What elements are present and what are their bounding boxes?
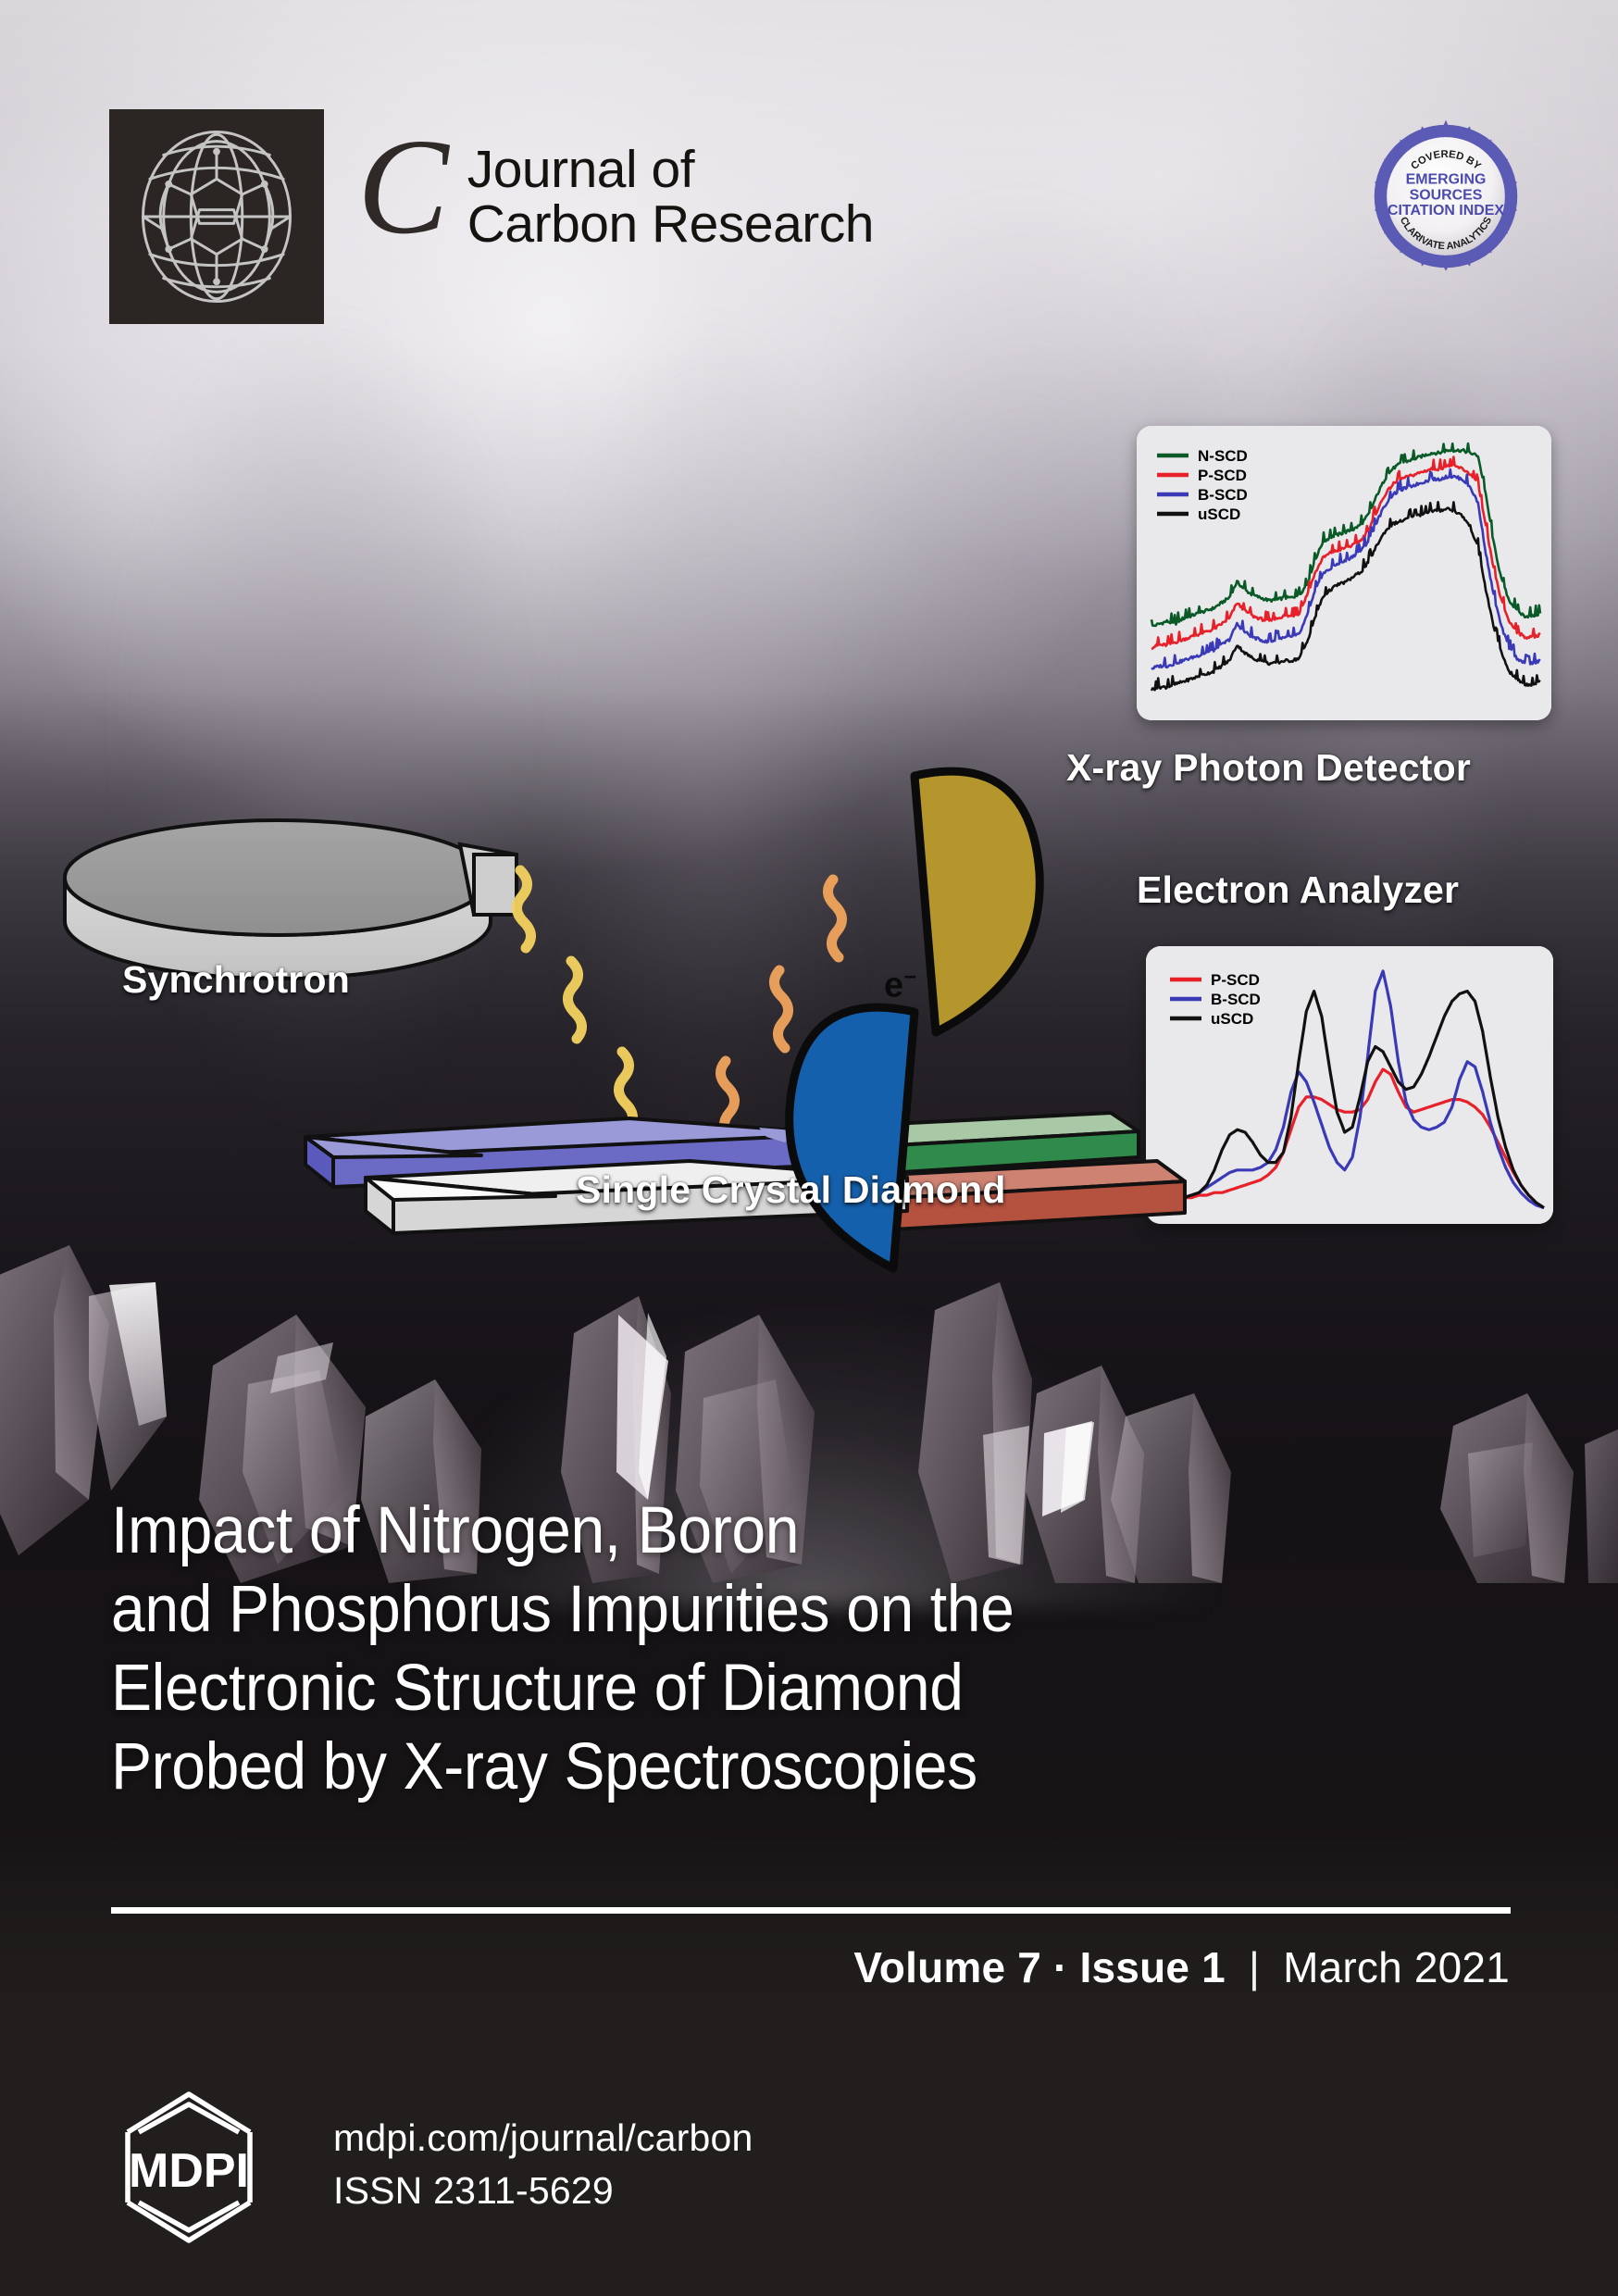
xray-photon-detector-label: X-ray Photon Detector <box>1066 746 1471 790</box>
xray-photon-detector-cone <box>915 771 1039 1032</box>
cover-title: Impact of Nitrogen, Boron and Phosphorus… <box>111 1492 1316 1806</box>
badge-main-line2: SOURCES <box>1410 187 1483 203</box>
issue-divider: | <box>1249 1943 1260 1991</box>
electron-analyzer-label: Electron Analyzer <box>1137 868 1459 912</box>
issue-date: March 2021 <box>1283 1943 1510 1991</box>
title-line-4: Probed by X-ray Spectroscopies <box>111 1728 1316 1807</box>
issue-line: Volume 7 · Issue 1 | March 2021 <box>853 1942 1510 1992</box>
electron-symbol: e <box>884 967 903 1005</box>
horizontal-divider <box>111 1907 1511 1914</box>
title-line-2: and Phosphorus Impurities on the <box>111 1571 1316 1650</box>
electron-analyzer-cone <box>790 1007 915 1268</box>
title-line-3: Electronic Structure of Diamond <box>111 1650 1316 1728</box>
mdpi-logo-icon: MDPI <box>118 2088 283 2247</box>
electron-label: e− <box>884 965 916 1006</box>
volume-issue-dot: · <box>1053 1943 1068 1991</box>
badge-main-line3: CITATION INDEX <box>1388 203 1504 218</box>
incident-xray-beam <box>517 870 632 1129</box>
xas-spectra-chart: N-SCDP-SCDB-SCDuSCD <box>1137 426 1551 720</box>
cover-footer: MDPI mdpi.com/journal/carbon ISSN 2311-5… <box>118 2088 753 2247</box>
journal-letter-c: C <box>357 130 447 244</box>
journal-title-line1: Journal of <box>467 143 874 197</box>
volume-label: Volume 7 <box>853 1943 1041 1991</box>
fullerene-c60-icon <box>109 109 324 324</box>
journal-title-line2: Carbon Research <box>467 197 874 252</box>
legend-label-p-scd: P-SCD <box>1198 467 1247 484</box>
journal-cover: C Journal of Carbon Research <box>0 0 1618 2296</box>
legend-label-n-scd: N-SCD <box>1198 447 1248 465</box>
electron-charge-superscript: − <box>903 965 916 989</box>
mdpi-wordmark: MDPI <box>129 2144 249 2198</box>
esci-seal-icon: COVERED BY EMERGING SOURCES CITATION IND… <box>1368 119 1524 274</box>
single-crystal-diamond-label: Single Crystal Diamond <box>576 1168 1006 1212</box>
legend-label-b-scd: B-SCD <box>1198 486 1248 504</box>
synchrotron-ring <box>65 820 517 979</box>
journal-masthead: C Journal of Carbon Research <box>109 109 874 324</box>
legend-label-uscd: uSCD <box>1198 505 1240 523</box>
synchrotron-label: Synchrotron <box>122 958 350 1002</box>
issue-number-label: Issue 1 <box>1080 1943 1226 1991</box>
journal-url[interactable]: mdpi.com/journal/carbon <box>333 2112 753 2165</box>
issn-label: ISSN 2311-5629 <box>333 2165 753 2217</box>
title-line-1: Impact of Nitrogen, Boron <box>111 1492 1316 1571</box>
badge-main-line1: EMERGING <box>1406 172 1487 188</box>
